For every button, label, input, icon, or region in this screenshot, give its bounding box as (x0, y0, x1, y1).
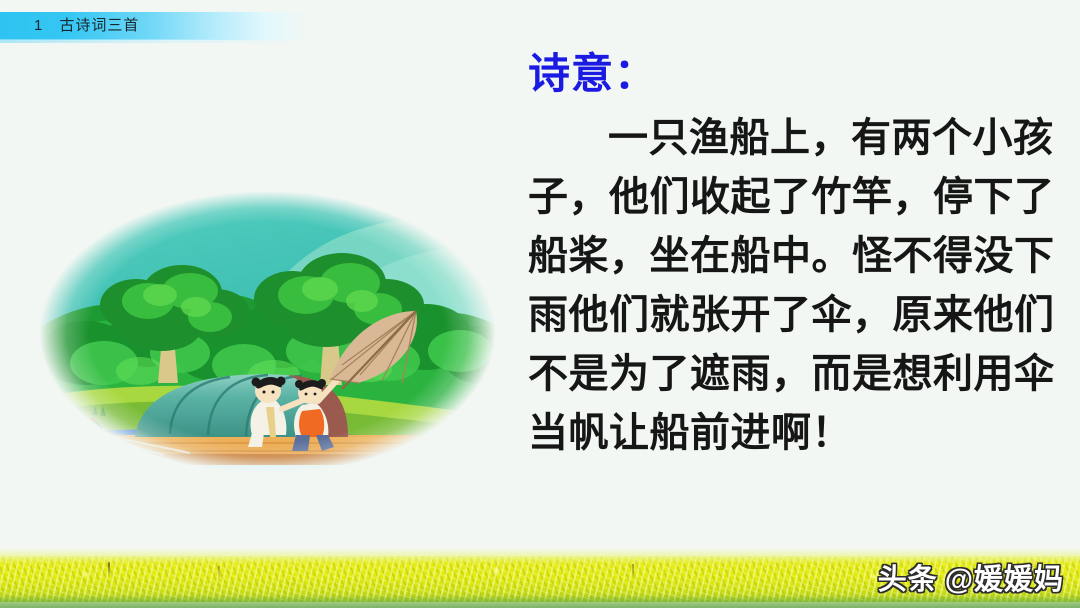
field-stalk-icon (632, 564, 634, 580)
watermark: 头条@媛媛妈 (878, 556, 1064, 598)
watermark-brand: 头条 (878, 564, 938, 596)
illustration-figure (30, 185, 505, 480)
field-stalk-icon (218, 566, 220, 582)
text-column: 诗意： 一只渔船上，有两个小孩子，他们收起了竹竿，停下了船桨，坐在船中。怪不得没… (528, 46, 1064, 462)
lesson-number: 1 (34, 17, 43, 34)
breadcrumb: 1古诗词三首 (34, 13, 139, 39)
page-title: 诗意： (528, 46, 1064, 102)
poem-body-text: 一只渔船上，有两个小孩子，他们收起了竹竿，停下了船桨，坐在船中。怪不得没下雨他们… (528, 108, 1064, 462)
illustration-oval-mask (30, 185, 505, 480)
field-stalk-icon (108, 562, 110, 578)
watermark-handle: @媛媛妈 (945, 564, 1064, 596)
boat-scene-illustration (30, 185, 505, 480)
lesson-title: 古诗词三首 (59, 17, 139, 34)
